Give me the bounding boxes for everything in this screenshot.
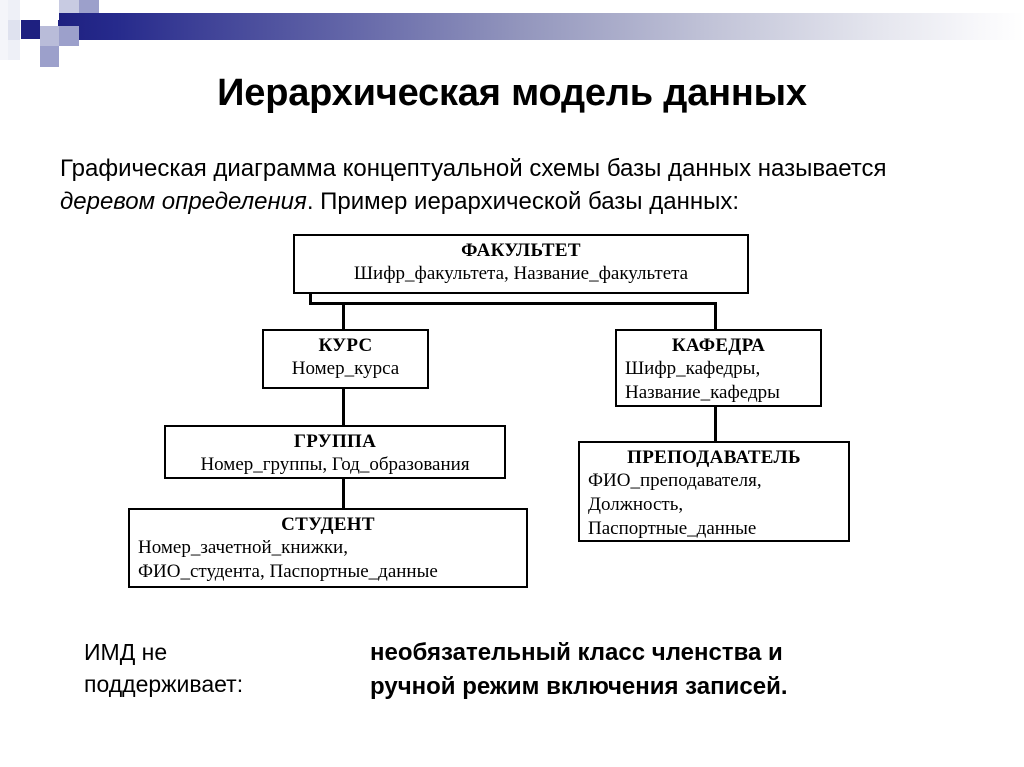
deco-square-light-3 [40, 0, 59, 20]
deco-square-mid-2 [40, 46, 59, 67]
intro-paragraph: Графическая диаграмма концептуальной схе… [60, 152, 920, 218]
deco-square-mid-1 [40, 26, 59, 46]
footer-right-line2: ручной режим включения записей. [370, 670, 930, 704]
node-student-attrs-line2: ФИО_студента, Паспортные_данные [138, 560, 518, 584]
page-title: Иерархическая модель данных [0, 72, 1024, 115]
node-student-title: СТУДЕНТ [138, 513, 518, 536]
edge-branch-left-riser [309, 292, 312, 305]
deco-square-mid-4 [79, 0, 99, 13]
footer-left-line2: поддерживает: [84, 668, 324, 700]
edge-fakultet-branch-bar [309, 302, 717, 305]
node-fakultet[interactable]: ФАКУЛЬТЕТ Шифр_факультета, Название_факу… [293, 234, 749, 294]
intro-text-part1: Графическая диаграмма концептуальной схе… [60, 155, 886, 182]
edge-gruppa-student [342, 478, 345, 510]
footer-left-text: ИМД не поддерживает: [84, 636, 324, 700]
node-prepodavatel-title: ПРЕПОДАВАТЕЛЬ [588, 446, 840, 469]
node-kurs-title: КУРС [272, 334, 419, 357]
deco-square-mid-3 [59, 26, 79, 46]
node-prepodavatel[interactable]: ПРЕПОДАВАТЕЛЬ ФИО_преподавателя, Должнос… [578, 441, 850, 542]
edge-kafedra-prepodavatel [714, 406, 717, 442]
node-kurs-attrs: Номер_курса [272, 357, 419, 381]
edge-fakultet-kurs [342, 302, 345, 330]
node-student[interactable]: СТУДЕНТ Номер_зачетной_книжки, ФИО_студе… [128, 508, 528, 588]
edge-kurs-gruppa [342, 388, 345, 426]
intro-emphasis: деревом определения [60, 188, 307, 215]
node-prepodavatel-attrs-line3: Паспортные_данные [588, 517, 840, 541]
deco-square-light-1 [20, 0, 39, 20]
edge-fakultet-stub [309, 292, 312, 304]
header-gradient-bar [58, 13, 1024, 40]
node-gruppa-attrs: Номер_группы, Год_образования [174, 453, 496, 477]
node-kafedra-attrs-line1: Шифр_кафедры, [625, 357, 812, 381]
node-kafedra-attrs-line2: Название_кафедры [625, 381, 812, 405]
deco-square-light-2 [20, 40, 39, 60]
node-prepodavatel-attrs-line1: ФИО_преподавателя, [588, 469, 840, 493]
node-fakultet-attrs: Шифр_факультета, Название_факультета [303, 262, 739, 286]
deco-square-light-4 [59, 0, 79, 13]
node-prepodavatel-attrs-line2: Должность, [588, 493, 840, 517]
edge-fakultet-kafedra [714, 302, 717, 330]
node-kurs[interactable]: КУРС Номер_курса [262, 329, 429, 389]
node-kafedra-title: КАФЕДРА [625, 334, 812, 357]
deco-square-pale-4 [0, 0, 8, 60]
footer-right-line1: необязательный класс членства и [370, 636, 930, 670]
header-decoration [0, 0, 1024, 60]
intro-text-part2: . Пример иерархической базы данных: [307, 188, 739, 215]
footer-left-line1: ИМД не [84, 636, 324, 668]
deco-square-deep-1 [21, 20, 40, 39]
node-kafedra[interactable]: КАФЕДРА Шифр_кафедры, Название_кафедры [615, 329, 822, 407]
node-fakultet-title: ФАКУЛЬТЕТ [303, 239, 739, 262]
node-student-attrs-line1: Номер_зачетной_книжки, [138, 536, 518, 560]
node-gruppa-title: ГРУППА [174, 430, 496, 453]
node-gruppa[interactable]: ГРУППА Номер_группы, Год_образования [164, 425, 506, 479]
footer-right-text: необязательный класс членства и ручной р… [370, 636, 930, 704]
